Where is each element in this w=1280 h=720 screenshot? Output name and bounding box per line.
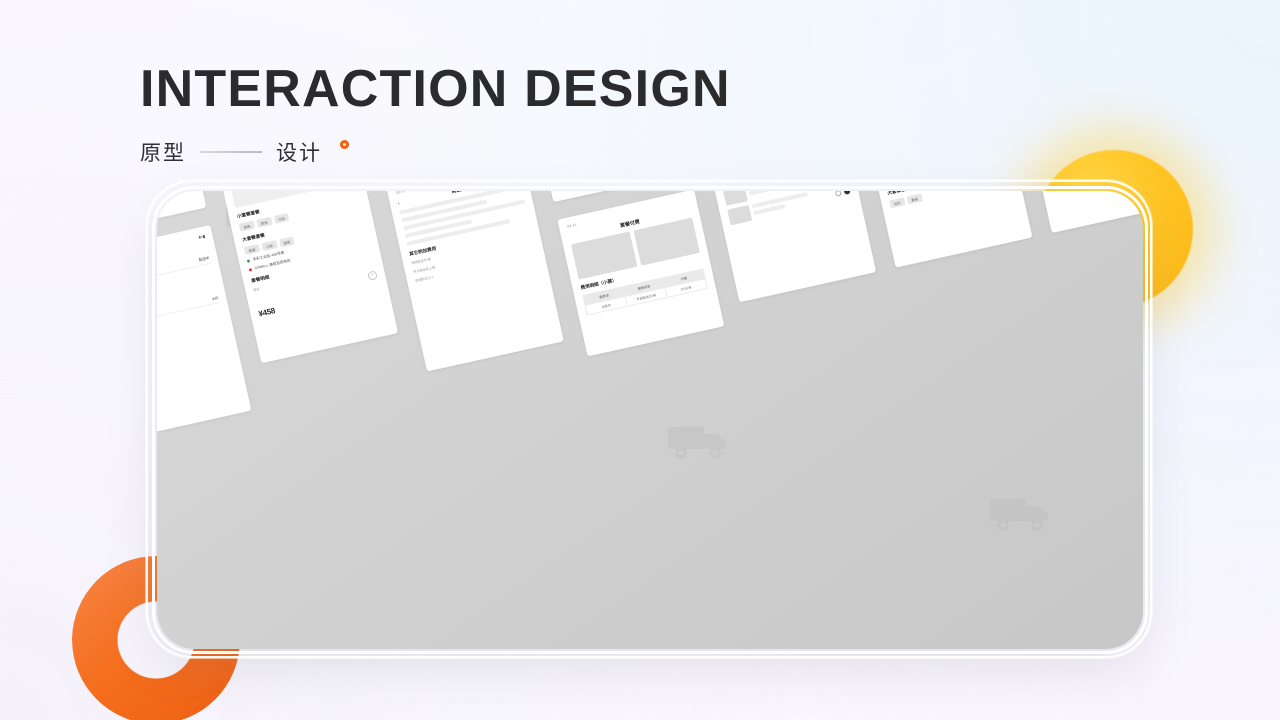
chip[interactable]: 口味 <box>261 240 277 251</box>
chip[interactable]: 数量 <box>244 244 260 255</box>
status-signal: ·ıll ≈ ▮ <box>197 234 205 240</box>
row-value: 配送中 <box>198 256 210 263</box>
wireframe-card[interactable]: 09:41 无卡取餐 店铺小套餐套餐 多彩工业区-430号楼 XXMALL 美食… <box>1011 191 1143 233</box>
status-dot-green <box>247 259 251 263</box>
image-placeholder <box>634 218 700 266</box>
row-value: ¥45 <box>212 296 219 301</box>
wireframe-card[interactable]: 09:41 套餐付费 费用明细（小票） 服务项 服务内容 价格 加急件 专属配送… <box>557 191 724 356</box>
subtitle-divider <box>200 151 262 153</box>
status-time: 09:41 <box>395 191 406 195</box>
quantity-stepper[interactable] <box>834 191 852 202</box>
subtitle-left: 原型 <box>140 137 186 167</box>
chip[interactable]: 加料 <box>889 197 905 208</box>
wireframe-card[interactable]: banner 小套餐套餐 规格 颜色 尺码 大套餐套餐 加料 套餐 <box>865 191 1032 268</box>
chip[interactable]: 规格 <box>239 221 255 232</box>
orange-ring-dot-icon <box>340 140 349 149</box>
subtitle-right: 设计 <box>276 137 322 167</box>
back-icon[interactable]: ‹ <box>397 200 400 206</box>
wireframe-card[interactable]: 09:41 帮忙服务 <box>709 191 876 302</box>
help-icon[interactable]: ? <box>367 270 378 281</box>
wireframe-board: 套餐明细 上门取件 / 单 店铺 多彩工业区-430号楼 XXMALL 美食百货… <box>157 191 1143 649</box>
chip[interactable]: 套餐 <box>906 193 922 204</box>
image-placeholder <box>571 231 637 279</box>
subtitle-row: 原型 设计 <box>140 137 731 167</box>
page-title: INTERACTION DESIGN <box>140 62 731 117</box>
chip[interactable]: 甜度 <box>279 236 295 247</box>
chip[interactable]: 尺码 <box>273 213 289 224</box>
wireframe-card[interactable]: 09:41 ‹商品详情 其它附加费用 专属配送员/单 专业搬运及上楼 增值附加工… <box>386 191 564 372</box>
wireframe-grid: 套餐明细 上门取件 / 单 店铺 多彩工业区-430号楼 XXMALL 美食百货… <box>157 191 1143 649</box>
image-placeholder <box>723 191 748 206</box>
status-time: 09:41 <box>567 223 578 229</box>
image-placeholder <box>727 205 752 225</box>
wireframe-card[interactable]: banner 小套餐套餐 规格 颜色 尺码 大套餐套餐 数量 口味 甜度 多彩工… <box>220 191 398 363</box>
slide-heading: INTERACTION DESIGN 原型 设计 <box>140 62 731 167</box>
chip[interactable]: 颜色 <box>256 217 272 228</box>
status-dot-red <box>249 268 253 272</box>
